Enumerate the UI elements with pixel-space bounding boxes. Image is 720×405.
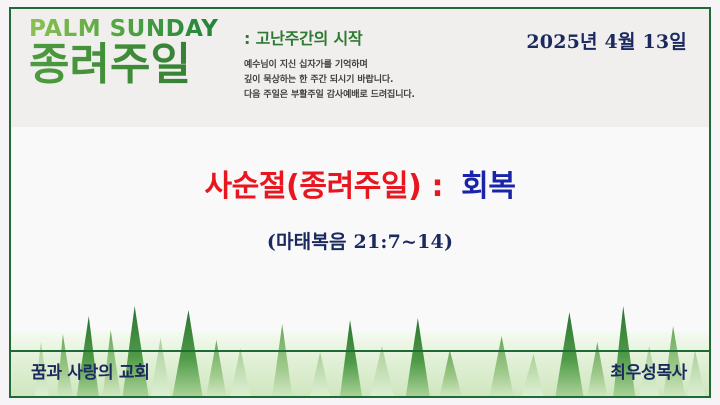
header-banner: PALM SUNDAY 종려주일 : 고난주간의 시작 예수님이 지신 십자가를… <box>11 9 709 127</box>
scripture-reference: (마태복음 21:7~14) <box>11 227 709 254</box>
description-line: 깊이 묵상하는 한 주간 되시기 바랍니다. <box>244 73 464 88</box>
palm-sunday-logo: PALM SUNDAY 종려주일 <box>29 17 241 89</box>
slide-frame: PALM SUNDAY 종려주일 : 고난주간의 시작 예수님이 지신 십자가를… <box>9 7 711 398</box>
sermon-title: 사순절(종려주일) :회복 <box>11 161 709 205</box>
header-description: 예수님이 지신 십자가를 기억하며 깊이 묵상하는 한 주간 되시기 바랍니다.… <box>244 58 464 103</box>
description-line: 예수님이 지신 십자가를 기억하며 <box>244 58 464 73</box>
slide-body: 사순절(종려주일) :회복 (마태복음 21:7~14) <box>11 127 709 396</box>
pastor-name: 최우성목사 <box>610 358 687 383</box>
footer-content: 꿈과 사랑의 교회 최우성목사 <box>11 352 709 396</box>
header-tagline: : 고난주간의 시작 <box>244 25 464 49</box>
description-line: 다음 주일은 부활주일 감사예배로 드려집니다. <box>244 88 464 103</box>
sermon-slide: PALM SUNDAY 종려주일 : 고난주간의 시작 예수님이 지신 십자가를… <box>0 0 720 405</box>
church-name: 꿈과 사랑의 교회 <box>31 358 150 383</box>
logo-korean-text: 종려주일 <box>29 40 241 89</box>
sermon-title-main: 사순절(종려주일) : <box>204 169 443 204</box>
sermon-title-accent: 회복 <box>461 169 515 204</box>
header-description-block: : 고난주간의 시작 예수님이 지신 십자가를 기억하며 깊이 묵상하는 한 주… <box>244 25 464 103</box>
logo-english-text: PALM SUNDAY <box>29 17 241 41</box>
footer-bar: 꿈과 사랑의 교회 최우성목사 <box>11 350 709 396</box>
service-date: 2025년 4월 13일 <box>526 27 687 54</box>
